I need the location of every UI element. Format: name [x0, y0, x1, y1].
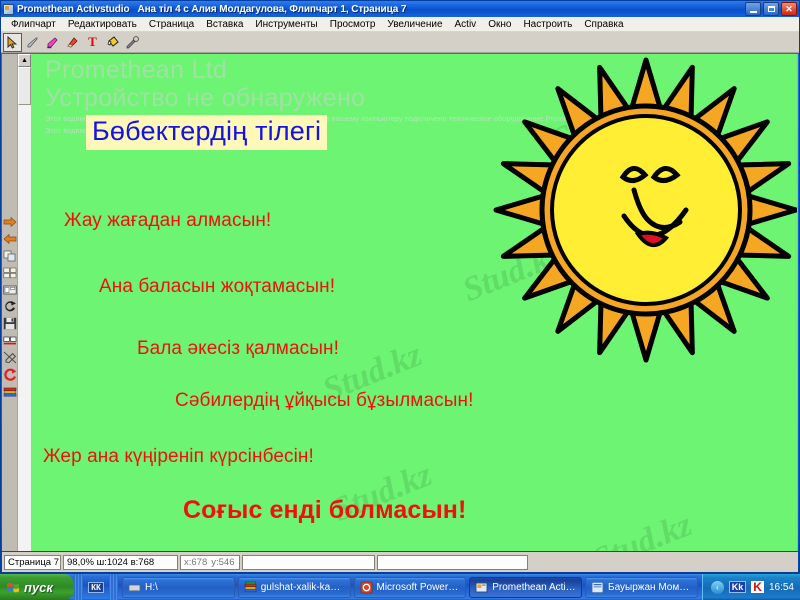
status-coord-y: y:546: [211, 557, 234, 568]
slide-line-3[interactable]: Бала әкесіз қалмасын!: [137, 338, 339, 360]
powerpoint-icon: [591, 581, 604, 594]
status-bar: Страница 7 98,0% ш:1024 в:768 x:678 y:54…: [2, 552, 798, 572]
task-list: H:\ gulshat-xalik-kaharm... Microsoft Po…: [118, 577, 702, 598]
menu-window[interactable]: Окно: [482, 17, 517, 32]
books-icon: [244, 581, 257, 594]
tray-language-indicator[interactable]: Kk: [729, 581, 747, 593]
duplicate-page[interactable]: [2, 248, 17, 263]
task-button-bauyrzhan[interactable]: Бауыржан Момышу...: [585, 577, 698, 598]
activstudio-icon: [475, 581, 488, 594]
reset-page[interactable]: [2, 367, 17, 382]
system-tray: ‹ Kk K 16:54: [702, 574, 800, 600]
scroll-track[interactable]: [18, 105, 31, 551]
site-watermark: Stud.kz: [588, 506, 698, 551]
fill-bucket-tool[interactable]: [103, 33, 122, 52]
menu-tools[interactable]: Инструменты: [249, 17, 323, 32]
menu-customise[interactable]: Настроить: [517, 17, 578, 32]
taskbar-separator: [74, 574, 83, 600]
menu-edit[interactable]: Редактировать: [62, 17, 143, 32]
start-button[interactable]: пуск: [0, 574, 74, 600]
page-thumbnails[interactable]: [2, 265, 17, 280]
slide-title[interactable]: Бөбектердің тілегі: [86, 115, 327, 150]
sun-rays: [496, 60, 796, 360]
task-label: Promethean Activst...: [492, 582, 576, 593]
start-button-label: пуск: [24, 580, 53, 595]
task-button-gulshat[interactable]: gulshat-xalik-kaharm...: [238, 577, 351, 598]
task-label: gulshat-xalik-kaharm...: [261, 582, 345, 593]
menu-insert[interactable]: Вставка: [200, 17, 249, 32]
status-field-4[interactable]: [242, 555, 375, 570]
redo[interactable]: [2, 299, 17, 314]
restore-icon: [768, 6, 775, 12]
status-zoom[interactable]: 98,0% ш:1024 в:768: [63, 555, 178, 570]
next-page-arrow[interactable]: [2, 214, 17, 229]
restore-button[interactable]: [763, 2, 779, 16]
task-button-activstudio[interactable]: Promethean Activst...: [469, 577, 582, 598]
folder-icon: [128, 581, 141, 594]
minimize-button[interactable]: [745, 2, 761, 16]
toolbar-empty-area: [143, 33, 799, 52]
scroll-up-button[interactable]: ▲: [18, 54, 31, 67]
smiling-sun-clipart[interactable]: [486, 54, 798, 382]
scroll-thumb[interactable]: [18, 67, 31, 105]
window-title: Promethean Activstudio Ана тiл 4 с Алия …: [17, 4, 406, 15]
sun-face: [552, 116, 740, 304]
select-arrow-tool[interactable]: [3, 33, 22, 52]
pen-tool[interactable]: [23, 33, 42, 52]
menu-help[interactable]: Справка: [578, 17, 629, 32]
promethean-watermark-subtitle: Устройство не обнаружено: [45, 84, 365, 113]
application-window: Promethean Activstudio Ана тiл 4 с Алия …: [0, 0, 800, 574]
save[interactable]: [2, 316, 17, 331]
status-page[interactable]: Страница 7: [4, 555, 61, 570]
task-label: Microsoft PowerPoin...: [377, 582, 461, 593]
slide-line-5[interactable]: Жер ана күңіреніп күрсінбесін!: [43, 446, 314, 468]
flipchart-canvas[interactable]: Promethean Ltd Устройство не обнаружено …: [31, 54, 798, 551]
page-organiser[interactable]: [2, 282, 17, 297]
task-button-powerpoint[interactable]: Microsoft PowerPoin...: [354, 577, 467, 598]
window-controls: ✕: [745, 2, 797, 16]
window-titlebar[interactable]: Promethean Activstudio Ана тiл 4 с Алия …: [1, 1, 799, 17]
menu-flipchart[interactable]: Флипчарт: [5, 17, 62, 32]
resource-library[interactable]: [2, 384, 17, 399]
side-toolbar: [2, 54, 18, 551]
canvas-vertical-scrollbar[interactable]: ▲: [18, 54, 31, 551]
quick-launch-language[interactable]: КК: [83, 582, 109, 593]
document-title: Ана тiл 4 с Алия Молдагулова, Флипчарт 1…: [138, 4, 407, 15]
previous-page-arrow[interactable]: [2, 231, 17, 246]
eraser-tool[interactable]: [63, 33, 82, 52]
task-label: H:\: [145, 582, 158, 593]
taskbar-clock[interactable]: 16:54: [769, 582, 794, 593]
text-icon: T: [88, 34, 97, 50]
slide-line-4[interactable]: Сәбилердің ұйқысы бұзылмасын!: [175, 390, 473, 412]
status-coordinates: x:678 y:546: [180, 555, 240, 570]
minimize-icon: [750, 11, 757, 13]
menu-view[interactable]: Просмотр: [324, 17, 382, 32]
slide-line-6[interactable]: Соғыс енді болмасын!: [183, 496, 466, 525]
slide-line-2[interactable]: Ана баласын жоқтамасын!: [99, 276, 335, 298]
windows-flag-icon: [6, 581, 20, 594]
page-notes[interactable]: [2, 333, 17, 348]
main-toolbar: T: [1, 32, 799, 53]
status-coord-x: x:678: [184, 557, 207, 568]
menu-activ[interactable]: Activ: [449, 17, 483, 32]
menu-bar: Флипчарт Редактировать Страница Вставка …: [1, 17, 799, 32]
text-tool[interactable]: T: [83, 33, 102, 52]
screen: Promethean Activstudio Ана тiл 4 с Алия …: [0, 0, 800, 600]
highlighter-tool[interactable]: [43, 33, 62, 52]
status-field-5[interactable]: [377, 555, 528, 570]
menu-zoom[interactable]: Увеличение: [381, 17, 448, 32]
task-button-folder[interactable]: H:\: [122, 577, 235, 598]
app-name: Promethean Activstudio: [17, 4, 129, 15]
clear-page[interactable]: [2, 350, 17, 365]
menu-page[interactable]: Страница: [143, 17, 200, 32]
antivirus-icon[interactable]: K: [751, 581, 764, 593]
taskbar: пуск КК H:\ gulshat-xalik-kaharm...: [0, 574, 800, 600]
editor-body: ▲ Promethean Ltd Устройство не обнаружен…: [2, 54, 798, 551]
task-label: Бауыржан Момышу...: [608, 582, 692, 593]
taskbar-separator: [109, 574, 118, 600]
activstudio-icon: [3, 4, 14, 15]
chevron-left-icon[interactable]: ‹: [711, 581, 724, 594]
close-button[interactable]: ✕: [781, 2, 797, 16]
language-indicator: КК: [88, 582, 104, 593]
eyedropper-tool[interactable]: [123, 33, 142, 52]
slide-line-1[interactable]: Жау жағадан алмасын!: [64, 210, 271, 232]
promethean-watermark-title: Promethean Ltd: [45, 56, 227, 85]
powerpoint-icon: [360, 581, 373, 594]
close-icon: ✕: [785, 5, 793, 14]
